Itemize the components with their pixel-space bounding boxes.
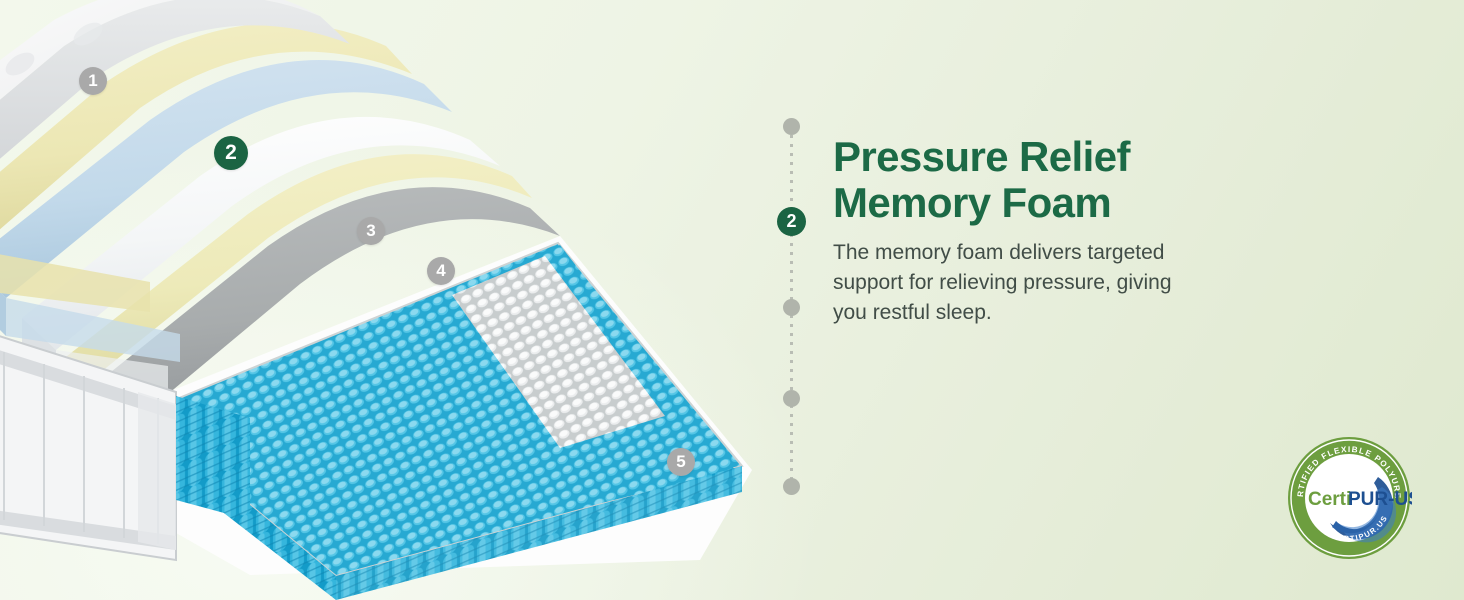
layer-badge-3[interactable]: 3 (357, 217, 385, 245)
feature-description: The memory foam delivers targeted suppor… (833, 238, 1183, 328)
product-feature-banner: 1 2 3 4 5 2 Pressure Relief Memory Foam … (0, 0, 1464, 600)
layer-badge-1[interactable]: 1 (79, 67, 107, 95)
layer-badge-2[interactable]: 2 (214, 136, 248, 170)
timeline-dot-4[interactable] (783, 390, 800, 407)
layer-badge-5[interactable]: 5 (667, 448, 695, 476)
certipur-registered-mark: ® (1394, 490, 1400, 499)
certipur-us-badge: CONTAINS CERTIFIED FLEXIBLE POLYURETHANE… (1286, 435, 1412, 561)
certipur-word-purus: PUR-US (1348, 489, 1412, 510)
timeline-dot-3[interactable] (783, 299, 800, 316)
timeline-dot-5[interactable] (783, 478, 800, 495)
feature-headline: Pressure Relief Memory Foam (833, 134, 1213, 226)
certipur-word-certi: Certi (1308, 489, 1351, 510)
timeline-dot-2-active[interactable]: 2 (777, 207, 806, 236)
timeline-dot-1[interactable] (783, 118, 800, 135)
step-timeline: 2 (777, 110, 811, 502)
feature-info: Pressure Relief Memory Foam The memory f… (833, 134, 1213, 328)
layer-badge-4[interactable]: 4 (427, 257, 455, 285)
mattress-layer-cutaway: 1 2 3 4 5 (0, 0, 760, 600)
headline-line-1: Pressure Relief (833, 133, 1130, 180)
mattress-illustration-svg (0, 0, 760, 600)
headline-line-2: Memory Foam (833, 180, 1213, 226)
certipur-badge-svg: CONTAINS CERTIFIED FLEXIBLE POLYURETHANE… (1286, 435, 1412, 561)
